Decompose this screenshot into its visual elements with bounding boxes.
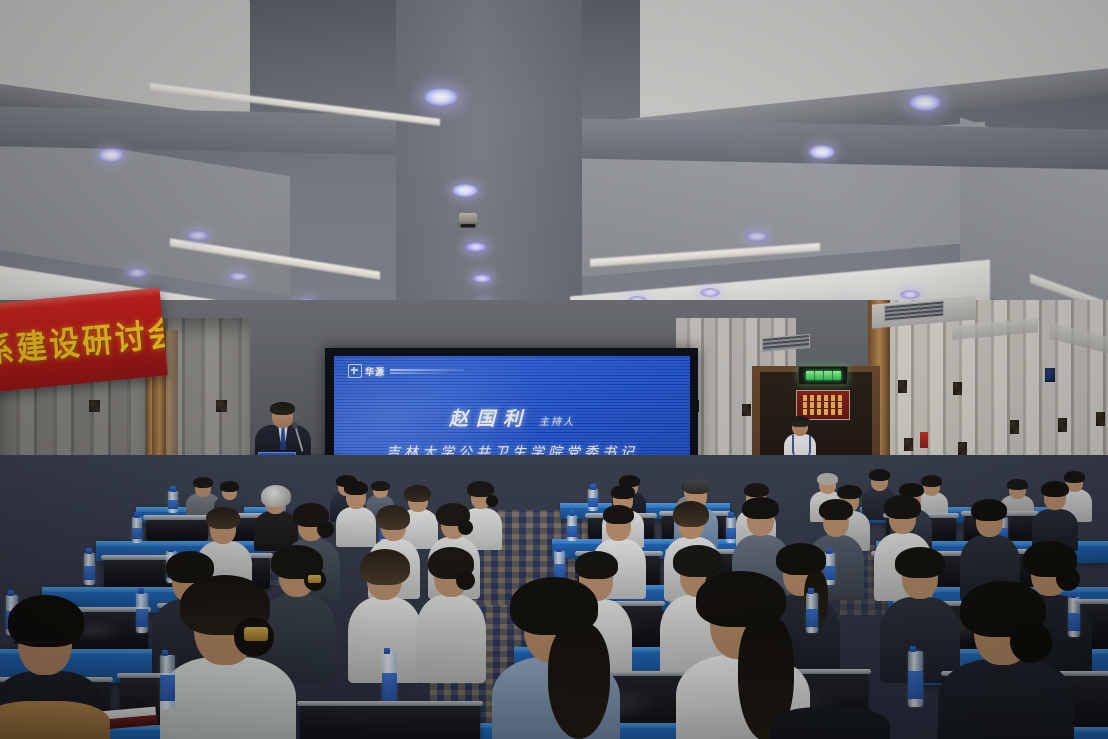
bottle-label [168, 500, 178, 509]
downlight-icon [228, 272, 249, 281]
audience-hair [884, 495, 921, 519]
audience-torso [0, 701, 110, 739]
audience-hair [220, 481, 239, 492]
audience-hair [376, 505, 410, 530]
downlight-icon [465, 242, 487, 252]
audience-member-foreground [770, 699, 890, 739]
audience-member-front-center [492, 577, 620, 739]
downlight-icon [424, 88, 458, 106]
audience-hair [895, 547, 945, 578]
audience-member-front-right [938, 581, 1074, 739]
water-bottle [168, 491, 178, 513]
exit-sign-glyph [815, 371, 823, 380]
notice-sign-line [803, 409, 843, 415]
bottle-label [84, 566, 95, 580]
bottle-label [567, 526, 577, 537]
exit-sign [798, 366, 848, 385]
notice-sign-line [803, 402, 843, 408]
downlight-icon [472, 274, 492, 283]
downlight-icon [745, 231, 769, 242]
audience-hair [837, 485, 862, 499]
wall-inset-square [1058, 418, 1067, 432]
screen-logo: 华源 [348, 364, 464, 378]
red-event-banner: 体系建设研讨会 [0, 288, 168, 393]
audience-torso [770, 707, 890, 739]
water-bottle [567, 515, 577, 541]
audience-hair-bun [1010, 621, 1052, 663]
logo-sub-line [390, 372, 448, 374]
audience-hair [744, 483, 769, 497]
bottle-label [160, 675, 175, 701]
banner-text: 体系建设研讨会 [0, 305, 168, 376]
lanyard-icon [792, 435, 811, 457]
audience-hair [344, 481, 368, 495]
hair-clip-icon [308, 575, 321, 583]
exit-sign-glyph [824, 371, 832, 380]
downlight-icon [909, 94, 941, 111]
wall-inset-square [216, 400, 227, 412]
ceiling [0, 0, 1108, 330]
audience-hair [971, 499, 1007, 521]
audience-hair [1007, 479, 1028, 490]
downlight-icon [700, 288, 720, 297]
audience-hair [683, 479, 710, 494]
conference-hall-photo: 体系建设研讨会 华源 赵国利 主持人 吉林大学公共卫生学院党委书记 民宾馆 [0, 0, 1108, 739]
bottle-label [382, 673, 397, 701]
audience-hair-bun [317, 521, 334, 538]
bottle-label [136, 609, 148, 627]
standing-attendee-hair [790, 416, 810, 427]
audience-hair [611, 485, 635, 499]
fire-alarm-icon [920, 432, 928, 448]
screen-speaker-role: 主持人 [539, 417, 575, 428]
audience-hair [1041, 481, 1069, 497]
glasses-icon [825, 519, 847, 523]
audience-seating-area [0, 455, 1108, 739]
audience-hair [673, 501, 709, 527]
bottle-label [908, 671, 923, 699]
audience-hair [8, 595, 84, 647]
audience-torso [416, 595, 486, 683]
wall-inset-square [89, 400, 100, 412]
screen-speaker-name-row: 赵国利 主持人 [334, 404, 690, 431]
logo-sub-line [390, 369, 464, 371]
exit-sign-glyph [806, 371, 814, 380]
wall-inset-square [1045, 368, 1055, 382]
screen-logo-subtitle-lines [390, 369, 464, 374]
hair-clip-icon [244, 627, 268, 641]
audience-hair [193, 477, 213, 488]
water-bottle [160, 655, 175, 709]
notice-sign-line [803, 395, 843, 401]
audience-hair [819, 499, 853, 520]
logo-mark-icon [348, 364, 362, 378]
audience-hair [869, 469, 890, 481]
water-bottle [136, 593, 148, 633]
downlight-icon [900, 290, 920, 299]
audience-hair [817, 473, 838, 485]
audience-member-foreground [0, 691, 110, 739]
wall-inset-square [904, 438, 913, 451]
ceiling-sensor-icon [459, 213, 477, 228]
water-bottle [84, 553, 95, 585]
audience-hair-long [548, 623, 610, 739]
audience-torso-light-jacket [160, 657, 296, 739]
audience-hair [360, 549, 410, 585]
screen-logo-text: 华源 [365, 365, 385, 378]
wall-inset-square [1010, 420, 1019, 434]
downlight-icon [186, 230, 210, 241]
screen-speaker-name: 赵国利 [449, 408, 530, 430]
audience-hair-bun [486, 495, 498, 507]
wall-inset-square [1096, 412, 1105, 426]
downlight-icon [452, 184, 478, 197]
audience-member [416, 547, 486, 677]
water-bottle [132, 517, 142, 543]
audience-member [1032, 481, 1078, 549]
wall-inset-square [953, 382, 962, 395]
speaker-glasses-icon [273, 413, 292, 418]
water-bottle [908, 651, 923, 707]
audience-torso [938, 659, 1074, 739]
audience-hair [206, 507, 240, 529]
audience-hair-bun [458, 520, 473, 535]
audience-hair-bun [456, 571, 475, 590]
downlight-icon [98, 148, 124, 162]
audience-hair [404, 485, 431, 502]
audience-member-front-center-left [160, 575, 296, 739]
wall-inset-square [958, 442, 967, 455]
downlight-icon [809, 145, 835, 159]
downlight-icon [126, 268, 148, 278]
glasses-icon [14, 641, 76, 650]
wall-inset-square [898, 380, 907, 393]
audience-hair [575, 551, 618, 579]
audience-hair [742, 497, 779, 519]
exit-sign-glyph [833, 371, 841, 380]
audience-hair [603, 505, 634, 524]
wall-inset-square [742, 404, 751, 416]
bottle-label [132, 528, 142, 539]
chair [300, 705, 480, 739]
